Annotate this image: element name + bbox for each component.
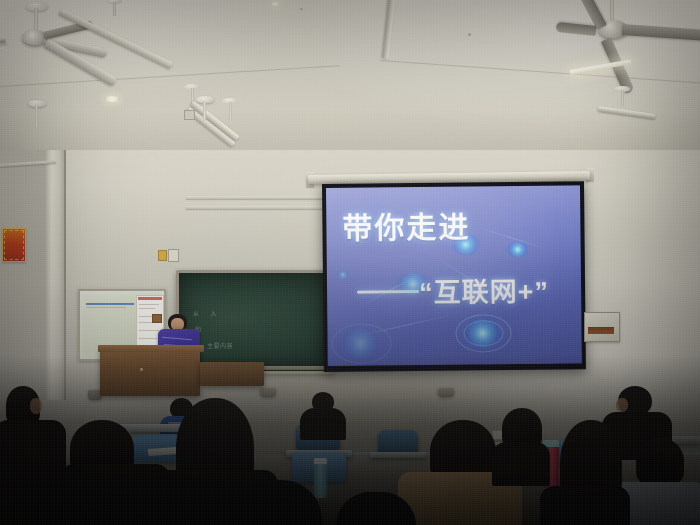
light-ballast	[184, 110, 195, 120]
poster-text-line	[139, 330, 159, 331]
foreground-silhouette-center	[212, 480, 322, 525]
light-stem	[229, 102, 232, 122]
fluorescent-tube	[383, 0, 395, 59]
fan-downrod	[610, 0, 614, 22]
mount-rod	[203, 101, 206, 121]
silhouette-body	[336, 492, 416, 525]
ceiling-mount	[196, 96, 216, 122]
wall-speaker-center	[260, 388, 276, 397]
silhouette-body	[212, 480, 322, 525]
student-foreground-right	[540, 400, 630, 525]
thermos-cap	[314, 458, 327, 464]
student-body	[300, 408, 346, 440]
wall-box-window	[588, 327, 614, 334]
slide-subheadline: “互联网+”	[419, 270, 549, 310]
side-table	[200, 362, 264, 386]
fan-blade	[622, 24, 700, 43]
light-stem	[621, 90, 624, 106]
network-node-ring	[331, 323, 391, 364]
tube-light-fixture	[378, 0, 438, 80]
recessed-ceiling-light	[270, 2, 280, 6]
student-face	[30, 398, 42, 414]
poster-header-bar	[138, 297, 162, 300]
slide-headline: 带你走进	[342, 202, 470, 247]
slide-dash-rule	[357, 290, 419, 294]
foreground-silhouette-left	[0, 470, 120, 525]
chalk-writing: 主要内容	[207, 343, 233, 352]
blackboard-brand-label: ·	[180, 272, 181, 276]
student-seated-center	[490, 408, 550, 478]
student-body	[492, 442, 550, 486]
tube-light-fixture	[60, 0, 200, 78]
notice-line	[86, 303, 134, 305]
ceiling-fixture-dot	[300, 8, 303, 10]
poster-text-line	[139, 308, 155, 309]
projection-screen-surface[interactable]: 带你走进 “互联网+”	[326, 185, 582, 366]
wall-speaker-right	[438, 388, 454, 397]
notice-line	[86, 307, 126, 308]
fluorescent-tube	[598, 106, 656, 119]
chalk-writing: ·	[263, 317, 266, 326]
mount-rod	[35, 105, 38, 127]
fluorescent-tube	[58, 8, 173, 69]
lectern-knob	[140, 368, 143, 371]
student-hair	[636, 438, 684, 486]
wall-poster-red	[2, 228, 26, 262]
fan-blade	[556, 22, 597, 36]
foreground-silhouette-right	[336, 492, 416, 525]
ceiling-mount	[28, 100, 48, 126]
wall-plate	[168, 249, 179, 262]
network-node-glow	[505, 242, 531, 257]
lectern-top	[98, 345, 204, 352]
network-node-glow	[335, 270, 351, 280]
poster-text-line	[139, 304, 159, 305]
poster-text-line	[139, 322, 153, 323]
silhouette-body	[0, 470, 120, 525]
student-back-center	[300, 392, 346, 436]
student-right-grey	[636, 438, 700, 525]
wall-mounted-box	[584, 312, 620, 342]
fluorescent-tube	[570, 59, 632, 75]
lectern-podium	[100, 348, 200, 396]
poster-inner-border	[4, 230, 24, 260]
tube-light-fixture	[596, 86, 686, 136]
screen-brand-label: ·	[582, 173, 584, 177]
fan-blade	[0, 40, 7, 53]
poster-text-line	[139, 338, 157, 339]
light-stem	[113, 2, 116, 16]
classroom-photo: 从 入 和 主要内容 · · · 带你走进 “互联网+”	[0, 0, 700, 525]
student-body	[540, 486, 630, 525]
wall-plate	[158, 250, 167, 261]
recessed-ceiling-light	[104, 96, 120, 102]
